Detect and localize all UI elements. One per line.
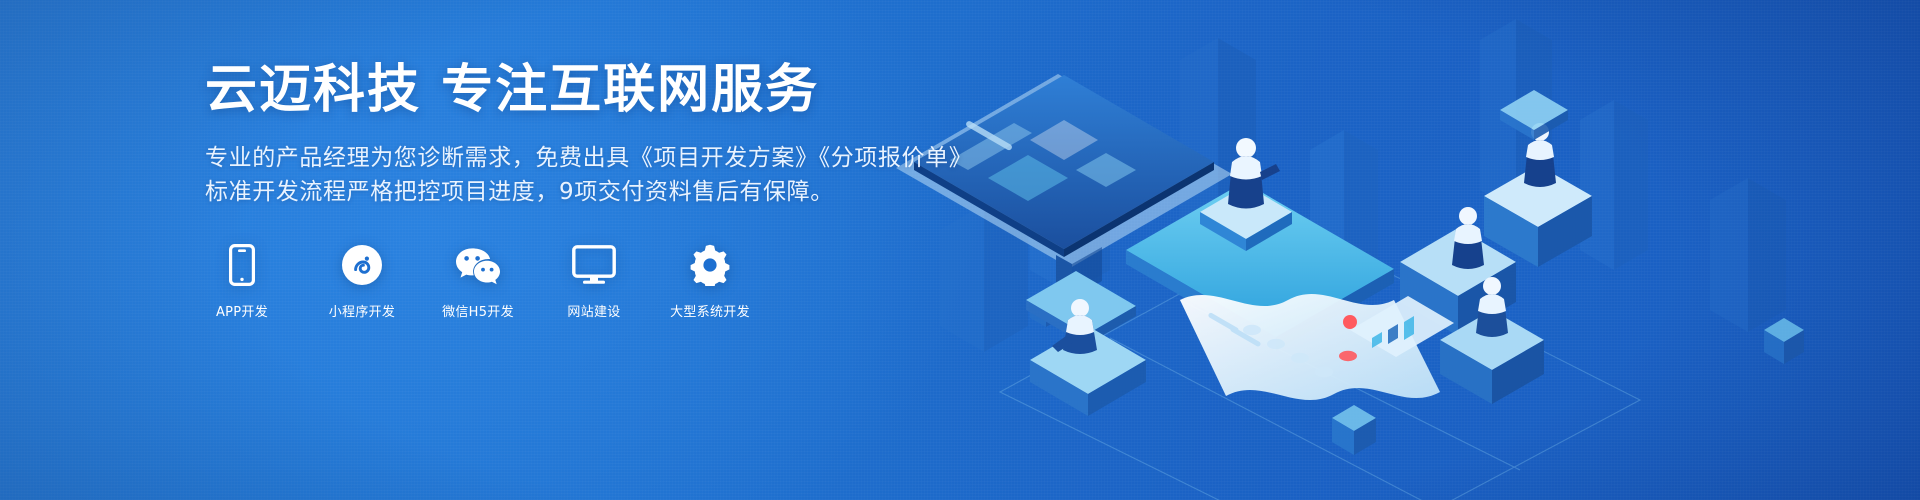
service-label-wechat-h5: 微信H5开发	[442, 301, 514, 320]
hero-banner: 云迈科技 专注互联网服务 专业的产品经理为您诊断需求，免费出具《项目开发方案》《…	[0, 0, 1920, 500]
ribbon-marker-icon	[1343, 315, 1357, 329]
page-title: 云迈科技 专注互联网服务	[205, 62, 1145, 119]
service-item-website[interactable]: 网站建设	[557, 243, 631, 320]
monitor-icon	[572, 243, 616, 287]
subtitle-line-1: 专业的产品经理为您诊断需求，免费出具《项目开发方案》《分项报价单》	[205, 141, 1145, 175]
person-right-middle	[1452, 207, 1484, 269]
banner-subtitle: 专业的产品经理为您诊断需求，免费出具《项目开发方案》《分项报价单》 标准开发流程…	[205, 141, 1145, 209]
mini-program-icon	[341, 243, 383, 287]
service-list: APP开发 小程序开发	[205, 243, 1145, 320]
wechat-icon	[454, 243, 502, 287]
service-label-large-system: 大型系统开发	[670, 301, 750, 320]
service-label-app: APP开发	[216, 301, 268, 320]
mobile-phone-icon	[229, 243, 255, 287]
gear-icon	[689, 243, 731, 287]
service-item-app[interactable]: APP开发	[205, 243, 279, 320]
banner-copy: 云迈科技 专注互联网服务 专业的产品经理为您诊断需求，免费出具《项目开发方案》《…	[205, 62, 1145, 320]
service-label-website: 网站建设	[567, 301, 620, 320]
service-item-large-system[interactable]: 大型系统开发	[673, 243, 747, 320]
service-item-wechat-h5[interactable]: 微信H5开发	[441, 243, 515, 320]
subtitle-line-2: 标准开发流程严格把控项目进度，9项交付资料售后有保障。	[205, 175, 1145, 209]
service-item-miniprogram[interactable]: 小程序开发	[325, 243, 399, 320]
service-label-miniprogram: 小程序开发	[329, 301, 396, 320]
